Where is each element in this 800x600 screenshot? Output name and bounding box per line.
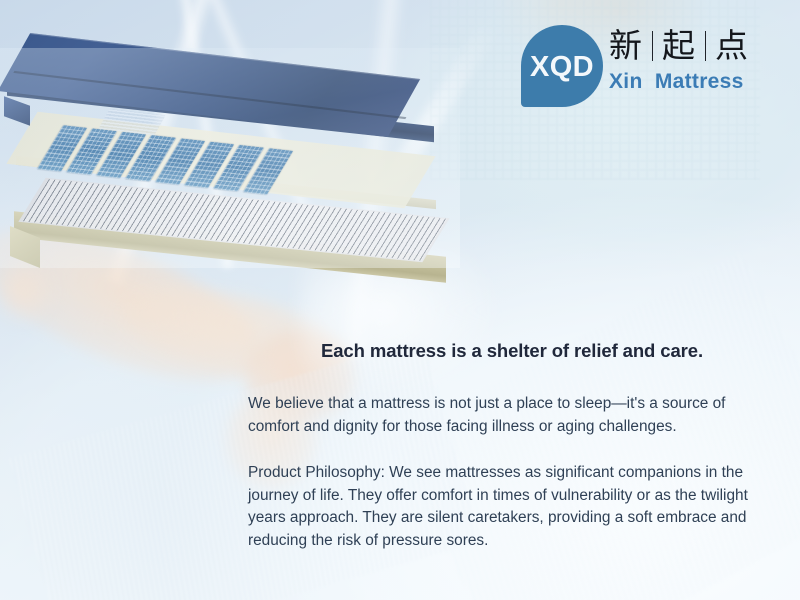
logo-wordmark: 新 起 点 Xin Mattress [609, 25, 748, 94]
paragraph-philosophy: Product Philosophy: We see mattresses as… [248, 462, 776, 552]
logo-mark-text: XQD [521, 51, 603, 84]
product-exploded-view [0, 48, 460, 268]
logo-separator [652, 31, 653, 61]
paragraph-intro: We believe that a mattress is not just a… [248, 393, 776, 438]
logo-english-name: Xin Mattress [609, 70, 748, 94]
logo-chinese-char-1: 新 [609, 29, 642, 62]
brand-logo: XQD 新 起 点 Xin Mattress [521, 25, 771, 120]
logo-mark: XQD [521, 25, 603, 107]
logo-chinese-char-3: 点 [715, 29, 748, 62]
marketing-banner: XQD 新 起 点 Xin Mattress Each mattress is … [0, 0, 800, 600]
headline: Each mattress is a shelter of relief and… [248, 340, 776, 362]
logo-chinese-name: 新 起 点 [609, 29, 748, 62]
product-blend-overlay [0, 48, 460, 268]
logo-chinese-char-2: 起 [662, 29, 695, 62]
logo-separator [705, 31, 706, 61]
